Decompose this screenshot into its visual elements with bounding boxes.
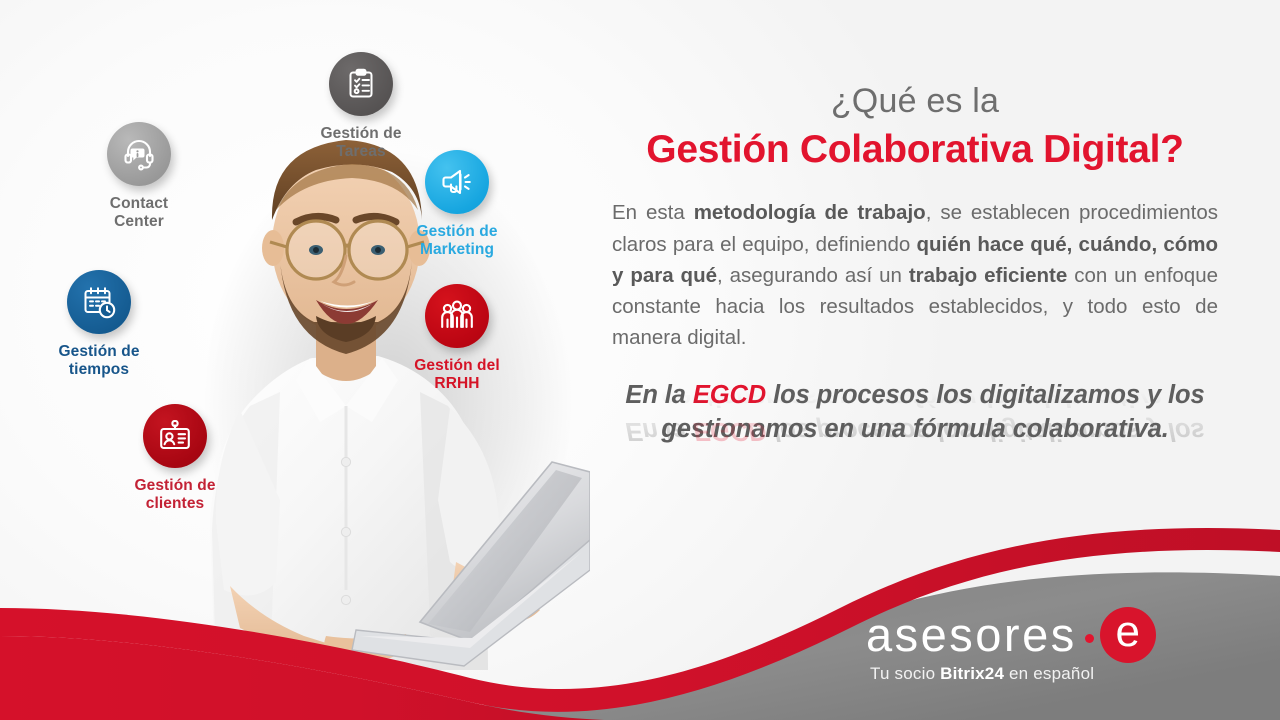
badge-contact-center[interactable]: ContactCenter	[64, 122, 214, 232]
body-bold-1: metodología de trabajo	[694, 201, 926, 224]
tagline-pre: Tu socio	[870, 664, 940, 683]
tagline-post: en español	[1004, 664, 1094, 683]
logo-wordmark: asesores	[866, 611, 1077, 658]
megaphone-icon	[440, 166, 474, 198]
logo-e-badge: e	[1100, 607, 1156, 663]
badge-label: ContactCenter	[64, 195, 214, 232]
logo-wordmark-row: asesores e	[866, 606, 1196, 662]
body-paragraph: En esta metodología de trabajo, se estab…	[612, 197, 1218, 353]
body-seg-3: , asegurando así un	[717, 264, 909, 287]
headset-icon	[122, 137, 156, 171]
people-icon	[439, 300, 475, 332]
body-seg-1: En esta	[612, 201, 694, 224]
badge-circle	[425, 150, 489, 214]
badge-gestion-tiempos[interactable]: Gestión detiempos	[24, 270, 174, 380]
badge-circle	[107, 122, 171, 186]
badge-gestion-rrhh[interactable]: Gestión delRRHH	[382, 284, 532, 394]
emphasis-pre: En la	[625, 381, 692, 409]
asesores-e-logo[interactable]: asesores e Tu socio Bitrix24 en español	[866, 606, 1196, 690]
logo-separator-dot-icon	[1085, 634, 1094, 643]
emphasis-acronym: EGCD	[693, 381, 766, 409]
kicker-text: ¿Qué es la	[612, 84, 1218, 120]
text-column: ¿Qué es la Gestión Colaborativa Digital?…	[612, 84, 1218, 529]
badge-gestion-marketing[interactable]: Gestión deMarketing	[382, 150, 532, 260]
clipboard-icon	[345, 68, 377, 100]
logo-tagline: Tu socio Bitrix24 en español	[866, 664, 1196, 684]
calendar-clock-icon	[82, 286, 116, 319]
tagline-brand: Bitrix24	[940, 664, 1004, 683]
body-bold-3: trabajo eficiente	[909, 264, 1067, 287]
slide-canvas: ContactCenter Gestión deTareas	[0, 0, 1280, 720]
badge-label: Gestión detiempos	[24, 343, 174, 380]
badge-label: Gestión delRRHH	[382, 357, 532, 394]
emphasis-text: En la EGCD los procesos los digitalizamo…	[612, 379, 1218, 447]
page-title: Gestión Colaborativa Digital?	[612, 128, 1218, 172]
badge-circle	[425, 284, 489, 348]
badge-circle	[143, 404, 207, 468]
badge-label: Gestión deMarketing	[382, 223, 532, 260]
id-card-icon	[158, 420, 192, 452]
badge-circle	[329, 52, 393, 116]
badge-circle	[67, 270, 131, 334]
badge-gestion-tareas[interactable]: Gestión deTareas	[286, 52, 436, 162]
